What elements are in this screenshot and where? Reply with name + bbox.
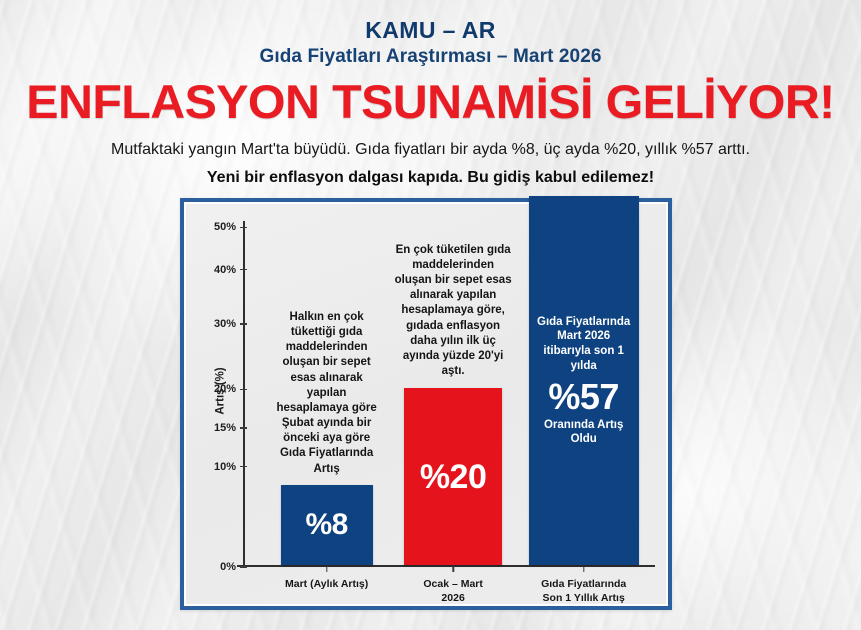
y-tick-mark	[240, 269, 247, 270]
lede-line-1: Mutfaktaki yangın Mart'ta büyüdü. Gıda f…	[0, 140, 861, 161]
bar-ocak-mart-2026[interactable]: %20	[404, 388, 502, 566]
y-tick-label: 30%	[214, 318, 236, 330]
plot-area: Artış (%) 0%10%15%20%30%40%50% Halkın en…	[243, 215, 651, 567]
brand-title: KAMU – AR	[0, 18, 861, 42]
x-label-line: Mart (Aylık Artış)	[285, 577, 368, 591]
chart-panel: Artış (%) 0%10%15%20%30%40%50% Halkın en…	[180, 198, 672, 610]
bar-mart-aylik-artis[interactable]: %8	[281, 485, 373, 565]
x-label-line: 2026	[423, 591, 483, 605]
bar-2-value-label: %20	[420, 460, 487, 494]
x-label-line: Son 1 Yıllık Artış	[541, 591, 626, 605]
y-tick-label: 10%	[214, 461, 236, 473]
y-tick-label: 20%	[214, 383, 236, 395]
lede-line-2: Yeni bir enflasyon dalgası kapıda. Bu gi…	[0, 168, 861, 189]
y-tick-label: 0%	[220, 561, 236, 573]
y-tick-mark	[240, 389, 247, 390]
y-tick-mark	[240, 323, 247, 324]
y-tick-mark	[240, 566, 247, 567]
annotation-bar-2: En çok tüketilen gıda maddelerinden oluş…	[393, 243, 513, 380]
report-subtitle: Gıda Fiyatları Araştırması – Mart 2026	[0, 46, 861, 68]
chart-canvas: Artış (%) 0%10%15%20%30%40%50% Halkın en…	[187, 205, 665, 603]
x-tick-mark	[583, 566, 584, 572]
x-label-line: Ocak – Mart	[423, 577, 483, 591]
x-tick-mark	[326, 566, 327, 572]
y-tick-mark	[240, 227, 247, 228]
bar-son-1-yillik-artis[interactable]: Gıda Fiyatlarında Mart 2026 itibarıyla s…	[529, 196, 639, 565]
bar-1-value-label: %8	[305, 510, 347, 540]
y-tick-mark	[240, 466, 247, 467]
x-axis-label-3: Gıda FiyatlarındaSon 1 Yıllık Artış	[541, 577, 626, 605]
y-tick-label: 50%	[214, 221, 236, 233]
lede-block: Mutfaktaki yangın Mart'ta büyüdü. Gıda f…	[0, 140, 861, 189]
y-tick-mark	[240, 427, 247, 428]
y-tick-label: 15%	[214, 422, 236, 434]
y-tick-label: 40%	[214, 264, 236, 276]
x-tick-mark	[452, 566, 453, 572]
bar-3-caption-bottom: Oranında Artış Oldu	[529, 418, 639, 447]
report-header: KAMU – AR Gıda Fiyatları Araştırması – M…	[0, 18, 861, 68]
x-label-line: Gıda Fiyatlarında	[541, 577, 626, 591]
x-axis-line	[237, 565, 655, 567]
bar-3-value-label: %57	[548, 379, 619, 415]
x-axis-label-2: Ocak – Mart2026	[423, 577, 483, 605]
main-headline: ENFLASYON TSUNAMİSİ GELİYOR!	[0, 78, 861, 125]
x-axis-label-1: Mart (Aylık Artış)	[285, 577, 368, 591]
bar-3-caption-top: Gıda Fiyatlarında Mart 2026 itibarıyla s…	[529, 315, 639, 374]
annotation-bar-1: Halkın en çok tükettiği gıda maddelerind…	[271, 310, 383, 477]
y-axis-line	[243, 221, 245, 567]
